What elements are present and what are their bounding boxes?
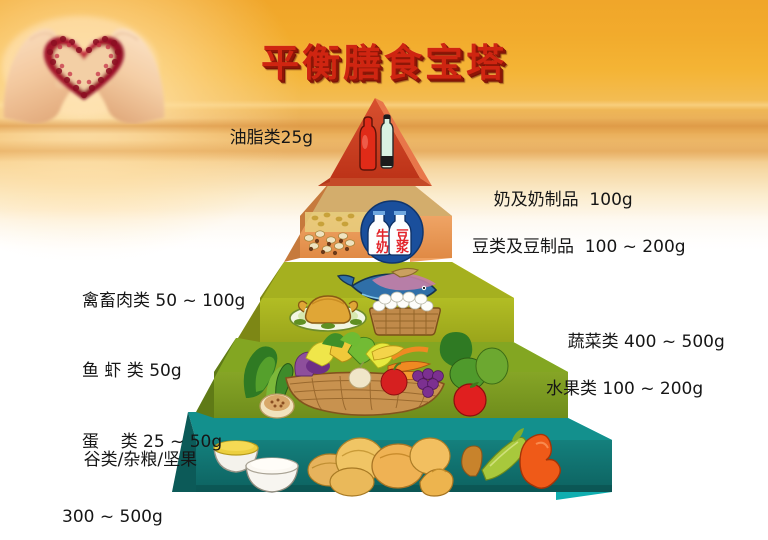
label-oils-text: 油脂类25g — [230, 128, 313, 148]
svg-text:奶: 奶 — [375, 240, 389, 256]
label-dairy-line1: 奶及奶制品 100g — [494, 190, 633, 210]
label-fruits-line2: 水果类 100 ~ 200g — [546, 378, 725, 401]
milk-soymilk-art: 牛 奶 豆 浆 — [361, 201, 423, 263]
label-grains-line2: 300 ~ 500g — [62, 506, 197, 529]
label-grains: 谷类/杂粮/坚果 300 ~ 500g — [62, 426, 197, 540]
label-oils: 油脂类25g — [208, 104, 313, 174]
label-dairy-beans: 奶及奶制品 100g 豆类及豆制品 100 ~ 200g — [472, 166, 686, 307]
poster-canvas: 平衡膳食宝塔 — [0, 0, 768, 540]
svg-text:浆: 浆 — [395, 240, 410, 256]
label-protein-line2: 鱼 虾 类 50g — [82, 360, 245, 383]
label-grains-line1: 谷类/杂粮/坚果 — [84, 450, 197, 470]
label-dairy-line2: 豆类及豆制品 100 ~ 200g — [472, 236, 686, 259]
label-vegetables-fruits: 蔬菜类 400 ~ 500g 水果类 100 ~ 200g — [546, 308, 725, 449]
label-protein-line1: 禽畜肉类 50 ~ 100g — [82, 290, 245, 313]
roast-chicken-art — [290, 296, 366, 331]
label-vegetables-line1: 蔬菜类 400 ~ 500g — [568, 332, 725, 352]
